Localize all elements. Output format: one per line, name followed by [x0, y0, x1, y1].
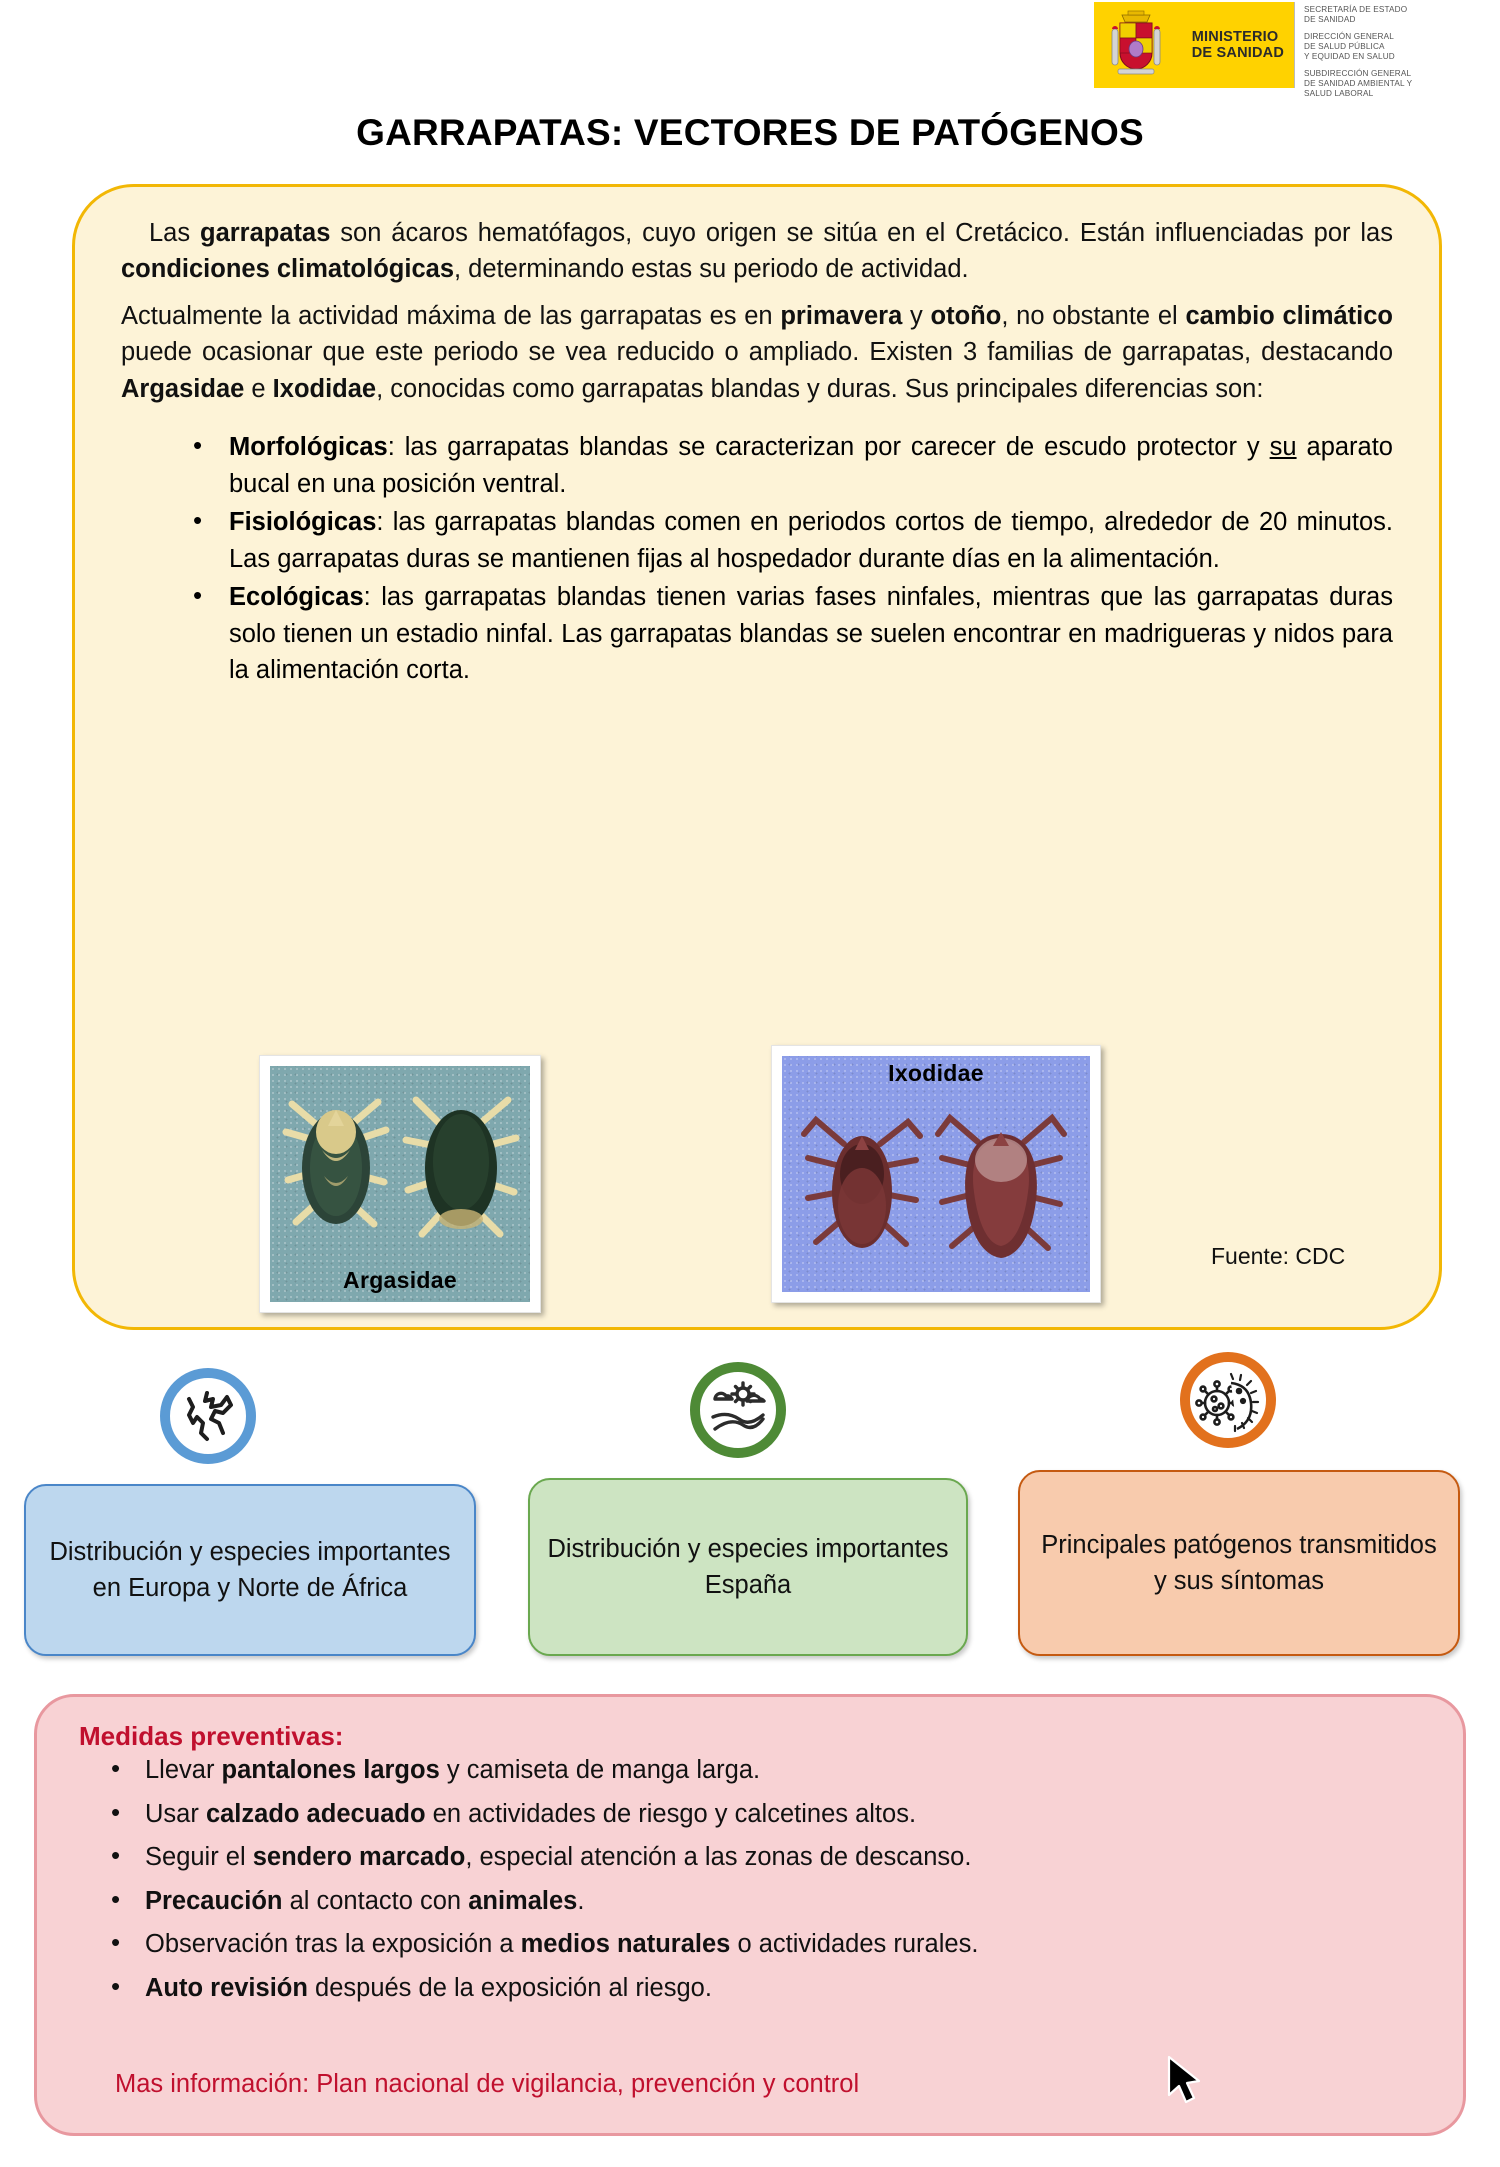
argasidae-photo-image: Argasidae — [270, 1066, 530, 1302]
prev-5-c: después de la exposición al riesgo. — [308, 1974, 712, 2002]
p2-text-g: puede ocasionar que este periodo se vea … — [121, 338, 1393, 366]
prev-4-a: Observación tras la exposición a — [145, 1930, 521, 1958]
coat-of-arms-icon — [1108, 9, 1164, 81]
org3-line-1: SUBDIRECCIÓN GENERAL — [1304, 69, 1490, 79]
p2-text-e: , no obstante el — [1001, 302, 1185, 330]
difference-text-a-1: : las garrapatas blandas comen en period… — [229, 508, 1393, 572]
ministry-line-2: DE SANIDAD — [1192, 45, 1284, 61]
nav-box-label: Distribución y especies importantes en E… — [38, 1534, 462, 1606]
nav-box-label: Distribución y especies importantes Espa… — [542, 1531, 954, 1603]
mouse-cursor-icon — [1165, 2055, 1209, 2107]
list-item: Usar calzado adecuado en actividades de … — [79, 1802, 1427, 1828]
difference-text-a-0: : las garrapatas blandas se caracterizan… — [388, 433, 1270, 461]
prev-2-a: Seguir el — [145, 1843, 253, 1871]
p2-bold-primavera: primavera — [780, 302, 902, 330]
pathogen-icon — [1180, 1352, 1276, 1448]
org2-line-3: Y EQUIDAD EN SALUD — [1304, 52, 1490, 62]
org2-line-2: DE SALUD PÚBLICA — [1304, 42, 1490, 52]
p2-text-a: Actualmente la actividad máxima de las g… — [121, 302, 780, 330]
intro-paragraph-2: Actualmente la actividad máxima de las g… — [121, 298, 1393, 407]
nav-box-patogenos-sintomas[interactable]: Principales patógenos transmitidos y sus… — [1018, 1470, 1460, 1656]
org3-line-2: DE SANIDAD AMBIENTAL Y — [1304, 79, 1490, 89]
list-item: Ecológicas: las garrapatas blandas tiene… — [121, 579, 1393, 688]
difference-label-morfologicas: Morfológicas — [229, 433, 388, 461]
nav-box-espana[interactable]: Distribución y especies importantes Espa… — [528, 1478, 968, 1656]
ministry-logo: MINISTERIO DE SANIDAD SECRETARÍA DE ESTA… — [1094, 2, 1490, 88]
ixodidae-caption: Ixodidae — [782, 1060, 1090, 1087]
p2-text-k: , conocidas como garrapatas blandas y du… — [376, 375, 1263, 403]
difference-text-a-2: : las garrapatas blandas tienen varias f… — [229, 583, 1393, 684]
ministry-name: MINISTERIO DE SANIDAD — [1192, 29, 1284, 61]
prev-1-b: calzado adecuado — [206, 1800, 426, 1828]
nav-box-label: Principales patógenos transmitidos y sus… — [1032, 1527, 1446, 1599]
list-item: Morfológicas: las garrapatas blandas se … — [121, 429, 1393, 502]
p1-text-a: Las — [149, 219, 200, 247]
prev-3-d: animales — [468, 1887, 577, 1915]
list-item: Fisiológicas: las garrapatas blandas com… — [121, 504, 1393, 577]
prev-0-c: y camiseta de manga larga. — [440, 1756, 760, 1784]
org3-line-3: SALUD LABORAL — [1304, 89, 1490, 99]
org2-line-1: DIRECCIÓN GENERAL — [1304, 32, 1490, 42]
ixodidae-photo: Ixodidae — [771, 1045, 1101, 1303]
prev-3-e: . — [577, 1887, 584, 1915]
prev-2-b: sendero marcado — [253, 1843, 466, 1871]
prev-3-c: al contacto con — [282, 1887, 468, 1915]
org-subdireccion-general: SUBDIRECCIÓN GENERAL DE SANIDAD AMBIENTA… — [1304, 69, 1490, 99]
p2-text-i: e — [244, 375, 272, 403]
ixodidae-photo-image: Ixodidae — [782, 1056, 1090, 1292]
logo-flag-banner: MINISTERIO DE SANIDAD — [1094, 2, 1294, 88]
p2-bold-cambio-climatico: cambio climático — [1185, 302, 1393, 330]
p2-bold-ixodidae: Ixodidae — [273, 375, 376, 403]
p2-text-c: y — [902, 302, 930, 330]
more-info-link[interactable]: Mas información: Plan nacional de vigila… — [115, 2070, 859, 2099]
nav-box-europa-norte-africa[interactable]: Distribución y especies importantes en E… — [24, 1484, 476, 1656]
p1-bold-condiciones: condiciones climatológicas — [121, 255, 454, 283]
argasidae-caption: Argasidae — [270, 1267, 530, 1294]
list-item: Auto revisión después de la exposición a… — [79, 1976, 1427, 2002]
org1-line-1: SECRETARÍA DE ESTADO — [1304, 5, 1490, 15]
globe-icon — [160, 1368, 256, 1464]
p1-bold-garrapatas: garrapatas — [200, 219, 330, 247]
logo-org-text: SECRETARÍA DE ESTADO DE SANIDAD DIRECCIÓ… — [1295, 2, 1490, 88]
list-item: Precaución al contacto con animales. — [79, 1889, 1427, 1915]
prev-1-c: en actividades de riesgo y calcetines al… — [426, 1800, 916, 1828]
prevention-title: Medidas preventivas: — [79, 1721, 1427, 1752]
prev-5-b: Auto revisión — [145, 1974, 308, 2002]
landscape-icon — [690, 1362, 786, 1458]
org1-line-2: DE SANIDAD — [1304, 15, 1490, 25]
ministry-line-1: MINISTERIO — [1192, 29, 1284, 45]
prev-3-b: Precaución — [145, 1887, 282, 1915]
p1-text-e: , determinando estas su periodo de activ… — [454, 255, 969, 283]
page-header: MINISTERIO DE SANIDAD SECRETARÍA DE ESTA… — [0, 0, 1500, 92]
prev-1-a: Usar — [145, 1800, 206, 1828]
argasidae-photo: Argasidae — [259, 1055, 541, 1313]
difference-label-fisiologicas: Fisiológicas — [229, 508, 376, 536]
prevention-card: Medidas preventivas: Llevar pantalones l… — [34, 1694, 1466, 2136]
prev-0-a: Llevar — [145, 1756, 222, 1784]
prev-4-b: medios naturales — [521, 1930, 731, 1958]
list-item: Seguir el sendero marcado, especial aten… — [79, 1845, 1427, 1871]
prev-0-b: pantalones largos — [222, 1756, 440, 1784]
differences-list: Morfológicas: las garrapatas blandas se … — [121, 429, 1393, 688]
page-title: GARRAPATAS: VECTORES DE PATÓGENOS — [0, 112, 1500, 154]
list-item: Observación tras la exposición a medios … — [79, 1932, 1427, 1958]
intro-paragraph-1: Las garrapatas son ácaros hematófagos, c… — [121, 215, 1393, 288]
intro-card: Las garrapatas son ácaros hematófagos, c… — [72, 184, 1442, 1330]
p1-text-c: son ácaros hematófagos, cuyo origen se s… — [330, 219, 1393, 247]
p2-bold-argasidae: Argasidae — [121, 375, 244, 403]
prev-2-c: , especial atención a las zonas de desca… — [465, 1843, 971, 1871]
list-item: Llevar pantalones largos y camiseta de m… — [79, 1758, 1427, 1784]
difference-label-ecologicas: Ecológicas — [229, 583, 364, 611]
org-secretaria: SECRETARÍA DE ESTADO DE SANIDAD — [1304, 5, 1490, 25]
prev-4-c: o actividades rurales. — [730, 1930, 978, 1958]
photo-source-label: Fuente: CDC — [1211, 1243, 1345, 1270]
org-direccion-general: DIRECCIÓN GENERAL DE SALUD PÚBLICA Y EQU… — [1304, 32, 1490, 62]
p2-bold-otono: otoño — [931, 302, 1002, 330]
prevention-list: Llevar pantalones largos y camiseta de m… — [79, 1758, 1427, 2001]
photo-row: Argasidae Ixodidae — [121, 1047, 1393, 1307]
difference-underline-0: su — [1270, 433, 1297, 461]
